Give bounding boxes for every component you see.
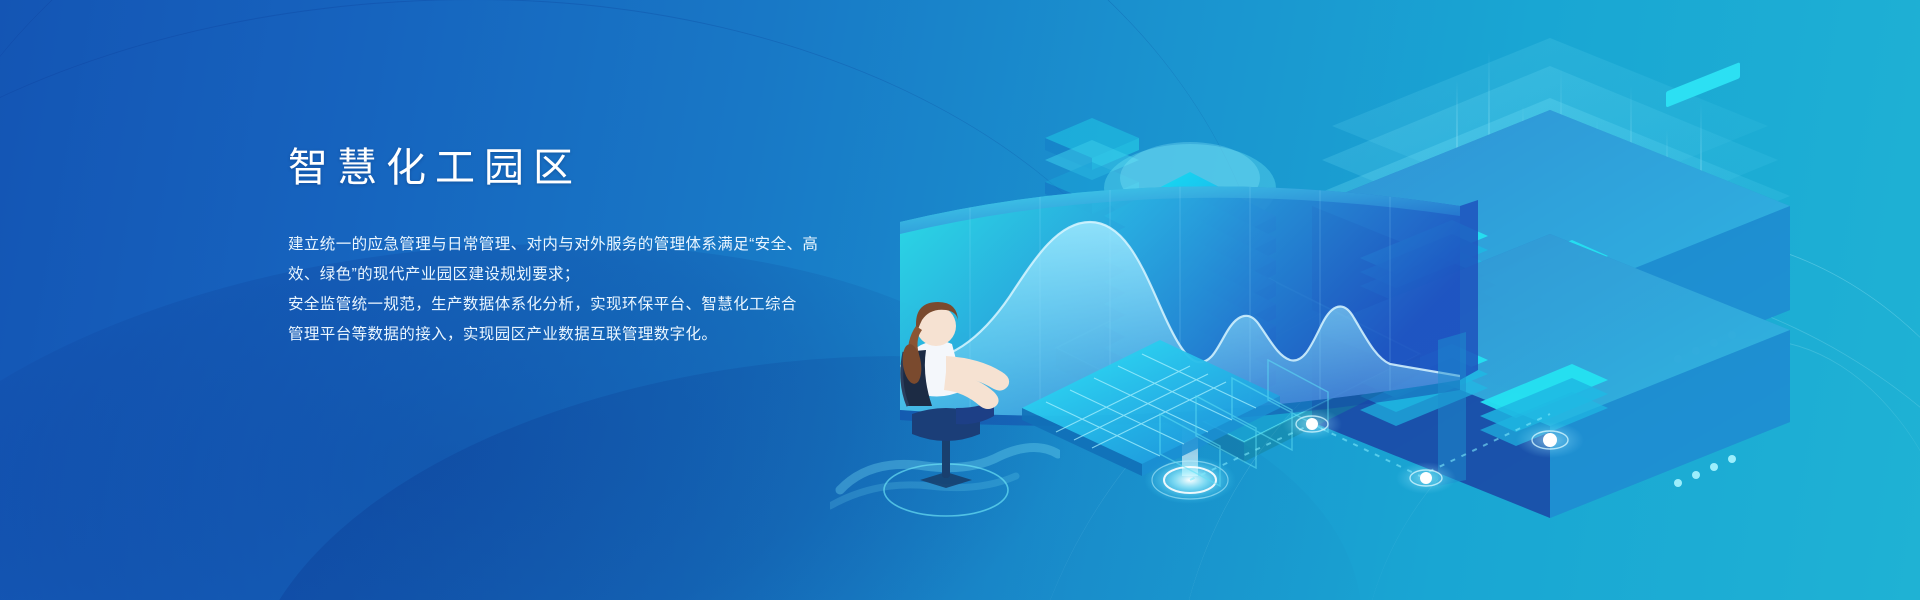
wall-pillar — [1438, 332, 1466, 486]
description-line: 建立统一的应急管理与日常管理、对内与对外服务的管理体系满足“安全、高 — [288, 230, 888, 260]
banner-description: 建立统一的应急管理与日常管理、对内与对外服务的管理体系满足“安全、高 效、绿色”… — [288, 230, 888, 350]
node-glow — [1516, 422, 1584, 458]
node-glow — [1282, 408, 1342, 440]
hero-banner: 智慧化工园区 建立统一的应急管理与日常管理、对内与对外服务的管理体系满足“安全、… — [0, 0, 1920, 600]
description-line: 管理平台等数据的接入，实现园区产业数据互联管理数字化。 — [288, 320, 888, 350]
description-line: 安全监管统一规范，生产数据体系化分析，实现环保平台、智慧化工综合 — [288, 290, 888, 320]
illustration-smart-park — [860, 10, 1920, 590]
banner-copy: 智慧化工园区 建立统一的应急管理与日常管理、对内与对外服务的管理体系满足“安全、… — [288, 148, 888, 350]
page-title: 智慧化工园区 — [288, 148, 888, 188]
node-glow — [1396, 462, 1456, 494]
description-line: 效、绿色”的现代产业园区建设规划要求； — [288, 260, 888, 290]
